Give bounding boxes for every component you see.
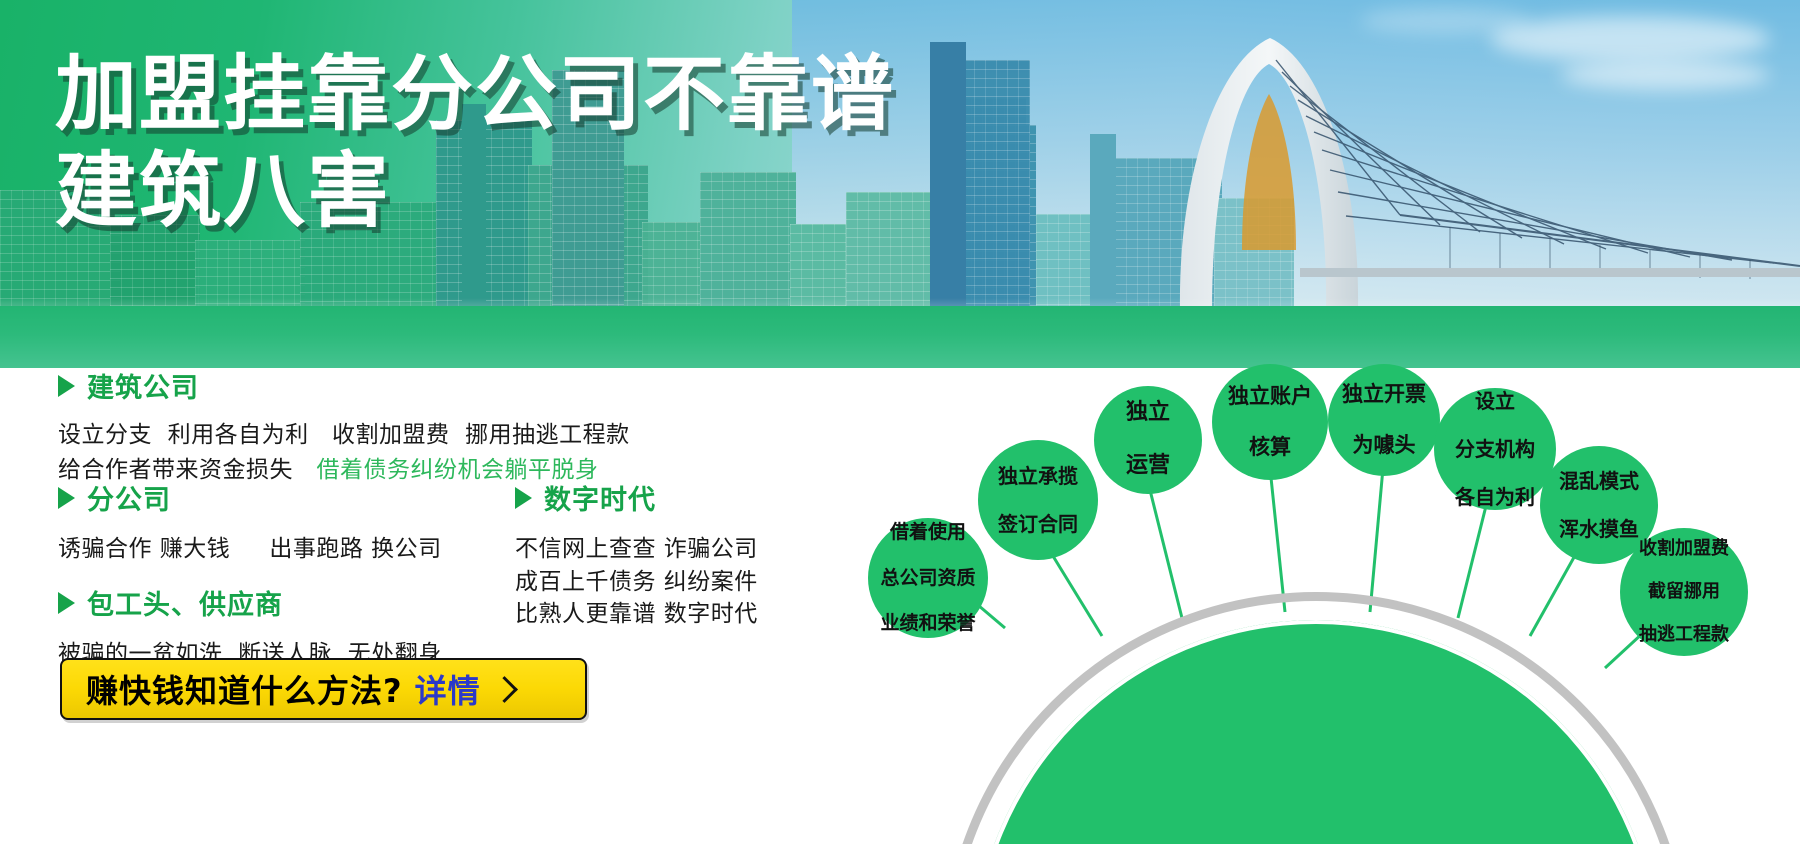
triangle-bullet-icon xyxy=(515,487,532,509)
section-title: 分公司 xyxy=(87,478,171,517)
bubble-4-text: 独立账户 核算 xyxy=(1216,384,1324,460)
bubble-7-text: 混乱模式 浑水摸鱼 xyxy=(1547,469,1651,541)
section-construction-company: 建筑公司 设立分支 利用各自为利 收割加盟费 挪用抽逃工程款 给合作者带来资金损… xyxy=(58,366,630,486)
dome-center-label: 建筑八害 xyxy=(973,838,1659,844)
bubble-3[interactable]: 独立 运营 xyxy=(1094,386,1202,494)
bubble-diagram: 建筑八害 借着使用 总公司资质 业绩和荣誉 独立承揽 签订合同 独立 运营 独立… xyxy=(830,368,1800,844)
section-line: 诱骗合作 赚大钱 出事跑路 换公司 xyxy=(58,533,442,566)
bubble-5[interactable]: 独立开票 为噱头 xyxy=(1328,364,1440,476)
section-line: 成百上千债务 纠纷案件 xyxy=(515,566,758,599)
hero-banner: 加盟挂靠分公司不靠谱 建筑八害 xyxy=(0,0,1800,368)
poster-root: 加盟挂靠分公司不靠谱 建筑八害 建筑公司 设立分支 利用各自为利 收割加盟费 挪… xyxy=(0,0,1800,844)
cta-link-text[interactable]: 详情 xyxy=(415,666,481,712)
section-line: 不信网上查查 诈骗公司 xyxy=(515,533,758,566)
cta-question-text: 赚快钱知道什么方法? xyxy=(86,666,403,712)
bubble-1[interactable]: 借着使用 总公司资质 业绩和荣誉 xyxy=(868,518,988,638)
section-header: 分公司 xyxy=(58,478,442,517)
left-content-panel: 建筑公司 设立分支 利用各自为利 收割加盟费 挪用抽逃工程款 给合作者带来资金损… xyxy=(0,368,830,844)
hero-title: 加盟挂靠分公司不靠谱 建筑八害 xyxy=(55,52,895,236)
bridge-illustration xyxy=(1150,20,1800,310)
section-header: 包工头、供应商 xyxy=(58,583,442,622)
hero-title-line2: 建筑八害 xyxy=(55,149,895,236)
bubble-5-text: 独立开票 为噱头 xyxy=(1330,382,1438,458)
bubble-3-text: 独立 运营 xyxy=(1114,400,1182,479)
section-title: 建筑公司 xyxy=(87,366,199,405)
triangle-bullet-icon xyxy=(58,375,75,397)
section-title: 包工头、供应商 xyxy=(87,583,283,622)
section-line: 比熟人更靠谱 数字时代 xyxy=(515,598,758,631)
bubble-2-text: 独立承揽 签订合同 xyxy=(986,464,1090,536)
chevron-right-icon xyxy=(491,676,518,703)
section-title: 数字时代 xyxy=(544,478,656,517)
bubble-1-text: 借着使用 总公司资质 业绩和荣誉 xyxy=(868,521,987,635)
bubble-8-text: 收割加盟费 截留挪用 抽逃工程款 xyxy=(1627,538,1741,646)
section-header: 建筑公司 xyxy=(58,366,630,405)
cta-button[interactable]: 赚快钱知道什么方法? 详情 xyxy=(60,658,587,720)
section-branch-company: 分公司 诱骗合作 赚大钱 出事跑路 换公司 xyxy=(58,478,442,566)
bubble-4[interactable]: 独立账户 核算 xyxy=(1212,364,1328,480)
bubble-6[interactable]: 设立 分支机构 各自为利 xyxy=(1434,388,1556,510)
section-header: 数字时代 xyxy=(515,478,758,517)
section-line: 设立分支 利用各自为利 收割加盟费 挪用抽逃工程款 xyxy=(58,419,630,452)
triangle-bullet-icon xyxy=(58,592,75,614)
bubble-6-text: 设立 分支机构 各自为利 xyxy=(1443,389,1547,509)
ground-band xyxy=(0,306,1800,368)
bubble-8[interactable]: 收割加盟费 截留挪用 抽逃工程款 xyxy=(1620,528,1748,656)
bubble-2[interactable]: 独立承揽 签订合同 xyxy=(978,440,1098,560)
hero-title-line1: 加盟挂靠分公司不靠谱 xyxy=(55,52,895,139)
triangle-bullet-icon xyxy=(58,487,75,509)
section-digital-era: 数字时代 不信网上查查 诈骗公司 成百上千债务 纠纷案件 比熟人更靠谱 数字时代 xyxy=(515,478,758,631)
